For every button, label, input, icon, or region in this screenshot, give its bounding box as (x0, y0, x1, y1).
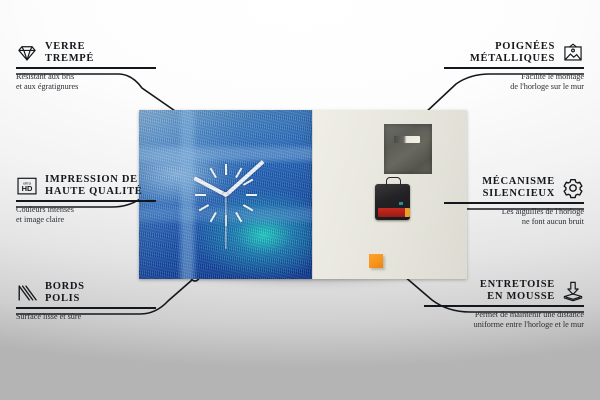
clock-mechanism (375, 184, 410, 220)
tick-mark (198, 178, 253, 211)
callout-verre-trempe: VERRE TREMPÉ Résistant aux bris et aux é… (16, 41, 156, 92)
tick-mark (209, 167, 242, 222)
battery-terminal (405, 208, 410, 217)
tick-mark (209, 167, 242, 222)
callout-subtitle-line: Résistant aux bris (16, 72, 156, 82)
clock-dial (139, 110, 312, 279)
tick-mark (198, 178, 253, 211)
product-image (139, 110, 467, 279)
callout-subtitle-line: ne font aucun bruit (444, 217, 584, 227)
down-arrow-pad-icon (562, 280, 584, 302)
hanger-plate (384, 124, 432, 174)
callout-subtitle-line: Facilite le montage (444, 72, 584, 82)
callout-header: POIGNÉES MÉTALLIQUES (444, 41, 584, 64)
tick-mark (209, 167, 242, 222)
tick-mark (198, 178, 253, 211)
callout-subtitle-line: de l'horloge sur le mur (444, 82, 584, 92)
svg-text:HD: HD (22, 184, 33, 193)
callout-title: MÉCANISME SILENCIEUX (482, 176, 555, 199)
hour-hand (193, 176, 227, 196)
callout-entretoise-en-mousse: ENTRETOISE EN MOUSSE Permet de maintenir… (424, 279, 584, 330)
callout-mecanisme-silencieux: MÉCANISME SILENCIEUX Les aiguilles de l'… (444, 176, 584, 227)
callout-rule (16, 200, 156, 202)
callout-subtitle-line: Couleurs intenses (16, 205, 156, 215)
tick-mark (225, 164, 227, 226)
callout-impression-haute-qualite: ultra HD IMPRESSION DE HAUTE QUALITÉ Cou… (16, 174, 156, 225)
callout-header: ultra HD IMPRESSION DE HAUTE QUALITÉ (16, 174, 156, 197)
callout-header: VERRE TREMPÉ (16, 41, 156, 64)
minute-hand (224, 160, 264, 196)
callout-subtitle-line: Permet de maintenir une distance (424, 310, 584, 320)
tick-mark (195, 194, 257, 196)
foam-spacer (369, 254, 383, 268)
callout-rule (444, 202, 584, 204)
callout-title: ENTRETOISE EN MOUSSE (424, 279, 555, 302)
wall-frame-hook-icon (562, 42, 584, 64)
diamond-icon (16, 42, 38, 64)
tick-mark (198, 178, 253, 211)
callout-rule (424, 305, 584, 307)
callout-header: MÉCANISME SILENCIEUX (444, 176, 584, 199)
callout-subtitle-line: uniforme entre l'horloge et le mur (424, 320, 584, 330)
hanger-slot (394, 136, 420, 143)
callout-subtitle-line: Surface lisse et sûre (16, 312, 156, 322)
callout-subtitle-line: Les aiguilles de l'horloge (444, 207, 584, 217)
clock-front-face (139, 110, 312, 279)
callout-title: BORDS POLIS (45, 281, 85, 304)
battery (378, 208, 405, 217)
callout-header: BORDS POLIS (16, 281, 156, 304)
callout-bords-polis: BORDS POLIS Surface lisse et sûre (16, 281, 156, 322)
infographic-canvas: VERRE TREMPÉ Résistant aux bris et aux é… (0, 0, 600, 400)
callout-header: ENTRETOISE EN MOUSSE (424, 279, 584, 302)
callout-title: VERRE TREMPÉ (45, 41, 94, 64)
callout-subtitle-line: et aux égratignures (16, 82, 156, 92)
ultra-hd-icon: ultra HD (16, 175, 38, 197)
mechanism-detail (399, 202, 403, 205)
callout-rule (444, 67, 584, 69)
callout-title: IMPRESSION DE HAUTE QUALITÉ (45, 174, 143, 197)
second-hand (225, 195, 226, 249)
callout-title: POIGNÉES MÉTALLIQUES (470, 41, 555, 64)
gear-icon (562, 177, 584, 199)
callout-rule (16, 307, 156, 309)
mechanism-hook (386, 177, 401, 187)
callout-subtitle-line: et image claire (16, 215, 156, 225)
polished-edges-icon (16, 282, 38, 304)
tick-mark (209, 167, 242, 222)
callout-rule (16, 67, 156, 69)
tick-mark (195, 194, 257, 196)
hands-center-cap (223, 192, 228, 197)
tick-mark (225, 164, 227, 226)
callout-poignees-metalliques: POIGNÉES MÉTALLIQUES Facilite le montage… (444, 41, 584, 92)
